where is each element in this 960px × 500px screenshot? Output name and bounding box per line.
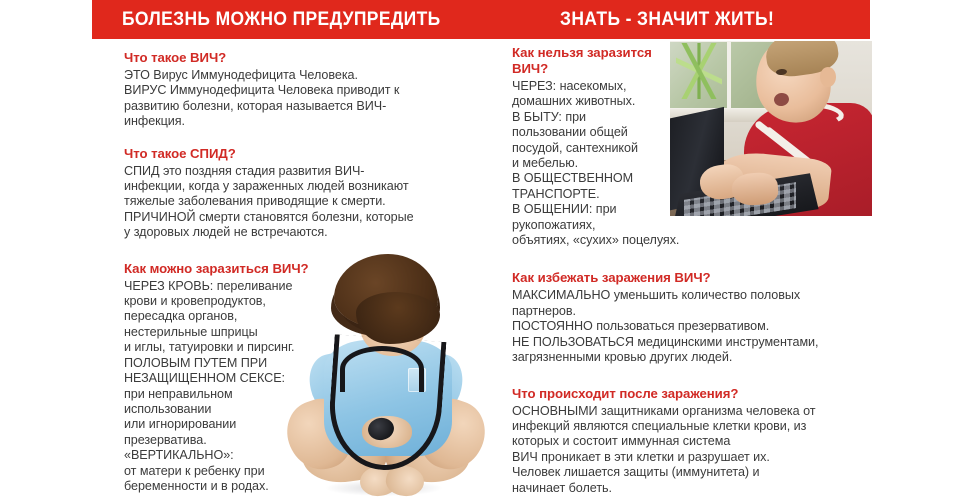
text-line: пересадка органов, bbox=[124, 309, 346, 324]
text-line: ПРИЧИНОЙ смерти становятся болезни, кото… bbox=[124, 210, 504, 225]
block-what-is-aids: Что такое СПИД? СПИД это поздняя стадия … bbox=[124, 146, 454, 241]
text-line: при неправильном bbox=[124, 387, 346, 402]
text-line: и иглы, татуировки и пирсинг. bbox=[124, 340, 346, 355]
block-title: Что такое СПИД? bbox=[124, 146, 454, 162]
hiv-prevention-poster: БОЛЕЗНЬ МОЖНО ПРЕДУПРЕДИТЬ ЗНАТЬ - ЗНАЧИ… bbox=[0, 0, 960, 500]
text-line: нестерильные шприцы bbox=[124, 325, 346, 340]
block-body: СПИД это поздняя стадия развития ВИЧ- ин… bbox=[124, 164, 504, 241]
text-line: у здоровых людей не встречаются. bbox=[124, 225, 504, 240]
text-line: ОСНОВНЫМИ защитниками организма человека… bbox=[512, 404, 932, 419]
text-line: В ОБЩЕНИИ: при bbox=[512, 202, 662, 217]
block-how-to-get-hiv: Как можно заразиться ВИЧ? ЧЕРЕЗ КРОВЬ: п… bbox=[124, 261, 454, 495]
text-line: партнеров. bbox=[512, 304, 932, 319]
text-line: тяжелые заболевания приводящие к смерти. bbox=[124, 194, 504, 209]
text-line: ТРАНСПОРТЕ. bbox=[512, 187, 662, 202]
text-line: использовании bbox=[124, 402, 346, 417]
header-title-right: ЗНАТЬ - ЗНАЧИТ ЖИТЬ! bbox=[560, 0, 774, 39]
text-line: начинает болеть. bbox=[512, 481, 932, 496]
block-what-happens-after-infection: Что происходит после заражения? ОСНОВНЫМ… bbox=[512, 386, 932, 496]
header-title-left: БОЛЕЗНЬ МОЖНО ПРЕДУПРЕДИТЬ bbox=[122, 0, 441, 39]
header-banner: БОЛЕЗНЬ МОЖНО ПРЕДУПРЕДИТЬ ЗНАТЬ - ЗНАЧИ… bbox=[92, 0, 870, 39]
block-title: Что происходит после заражения? bbox=[512, 386, 932, 402]
text-line: или игнорировании bbox=[124, 417, 346, 432]
block-title: Как избежать заражения ВИЧ? bbox=[512, 270, 932, 286]
boy-hand-right bbox=[731, 171, 779, 206]
text-line: и мебелью. bbox=[512, 156, 662, 171]
text-line: которых и состоит иммунная система bbox=[512, 434, 932, 449]
text-line: домашних животных. bbox=[512, 94, 662, 109]
text-line: инфекции, когда у зараженных людей возни… bbox=[124, 179, 504, 194]
text-line: ЧЕРЕЗ: насекомых, bbox=[512, 79, 662, 94]
block-body: ОСНОВНЫМИ защитниками организма человека… bbox=[512, 404, 932, 496]
block-body: ЭТО Вирус Иммунодефицита Человека. ВИРУС… bbox=[124, 68, 504, 130]
text-line: ВИЧ проникает в эти клетки и разрушает и… bbox=[512, 450, 932, 465]
block-title: Что такое ВИЧ? bbox=[124, 50, 454, 66]
text-line: объятиях, «сухих» поцелуях. bbox=[512, 233, 772, 248]
block-what-is-hiv: Что такое ВИЧ? ЭТО Вирус Иммунодефицита … bbox=[124, 50, 454, 130]
text-line: НЕЗАЩИЩЕННОМ СЕКСЕ: bbox=[124, 371, 346, 386]
text-line: НЕ ПОЛЬЗОВАТЬСЯ медицинскими инструмента… bbox=[512, 335, 932, 350]
text-line: ЭТО Вирус Иммунодефицита Человека. bbox=[124, 68, 504, 83]
text-line: инфекций являются специальные клетки кро… bbox=[512, 419, 932, 434]
text-line: загрязненными кровью других людей. bbox=[512, 350, 932, 365]
text-line: ЧЕРЕЗ КРОВЬ: переливание bbox=[124, 279, 346, 294]
block-body: ЧЕРЕЗ: насекомых, домашних животных. В Б… bbox=[512, 79, 662, 248]
text-line: презерватива. bbox=[124, 433, 346, 448]
block-body: ЧЕРЕЗ КРОВЬ: переливание крови и кровепр… bbox=[124, 279, 346, 495]
text-line: развитию болезни, которая называется ВИЧ… bbox=[124, 99, 504, 114]
text-line: ПОЛОВЫМ ПУТЕМ ПРИ bbox=[124, 356, 346, 371]
text-line: Человек лишается защиты (иммунитета) и bbox=[512, 465, 932, 480]
text-line: В БЫТУ: при bbox=[512, 110, 662, 125]
text-line: «ВЕРТИКАЛЬНО»: bbox=[124, 448, 346, 463]
left-column: Что такое ВИЧ? ЭТО Вирус Иммунодефицита … bbox=[124, 50, 454, 500]
block-body: МАКСИМАЛЬНО уменьшить количество половых… bbox=[512, 288, 932, 365]
plant-icon bbox=[676, 43, 722, 99]
text-line: В ОБЩЕСТВЕННОМ bbox=[512, 171, 662, 186]
block-title: Как можно заразиться ВИЧ? bbox=[124, 261, 454, 277]
boy-ear bbox=[820, 67, 836, 87]
text-line: МАКСИМАЛЬНО уменьшить количество половых bbox=[512, 288, 932, 303]
text-line: ВИРУС Иммунодефицита Человека приводит к bbox=[124, 83, 504, 98]
text-line: инфекция. bbox=[124, 114, 504, 129]
text-line: крови и кровепродуктов, bbox=[124, 294, 346, 309]
text-line: пользовании общей bbox=[512, 125, 662, 140]
block-title: Как нельзя заразится ВИЧ? bbox=[512, 45, 662, 77]
text-line: посудой, сантехникой bbox=[512, 141, 662, 156]
title-line: Как нельзя bbox=[512, 45, 583, 60]
block-how-to-avoid-hiv: Как избежать заражения ВИЧ? МАКСИМАЛЬНО … bbox=[512, 270, 932, 365]
photo-boy-at-laptop-icon bbox=[670, 41, 872, 216]
text-line: рукопожатиях, bbox=[512, 218, 662, 233]
text-line: ПОСТОЯННО пользоваться презервативом. bbox=[512, 319, 932, 334]
text-line: беременности и в родах. bbox=[124, 479, 346, 494]
text-line: от матери к ребенку при bbox=[124, 464, 346, 479]
text-line: СПИД это поздняя стадия развития ВИЧ- bbox=[124, 164, 504, 179]
